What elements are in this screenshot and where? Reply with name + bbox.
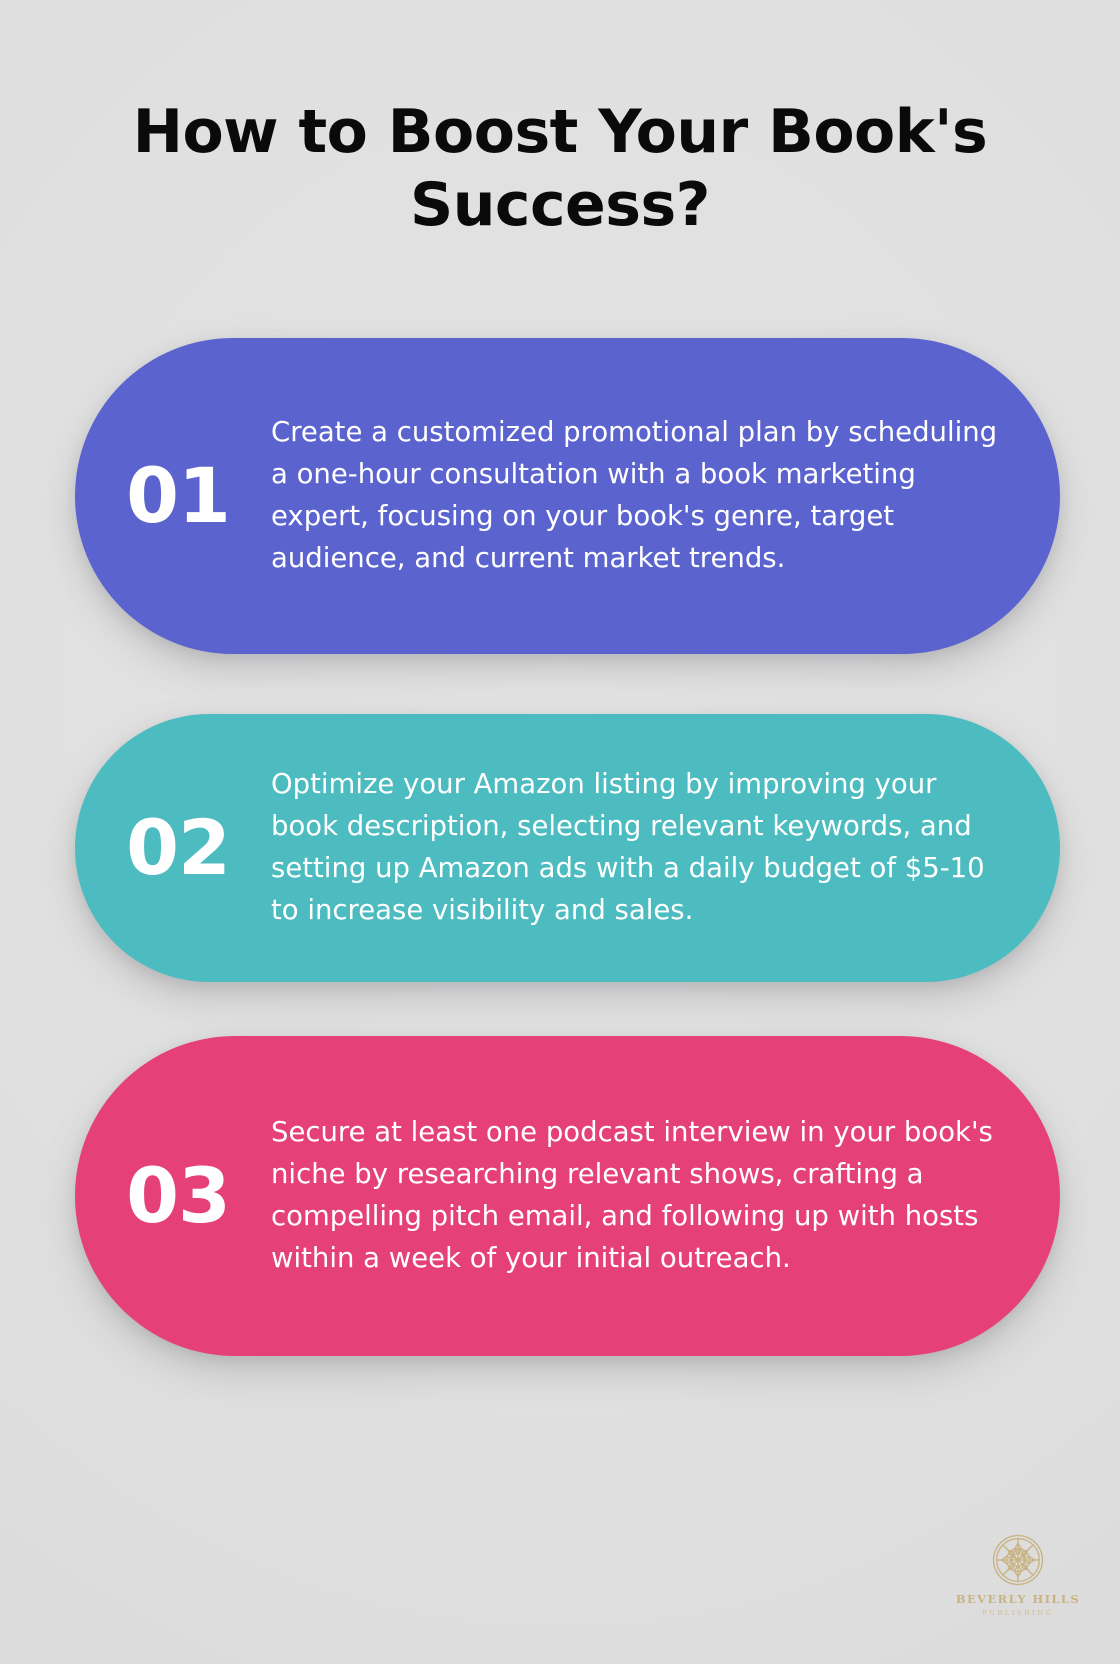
step-card-03: 03 Secure at least one podcast interview… — [75, 1036, 1060, 1356]
step-number: 02 — [75, 810, 271, 886]
page-title: How to Boost Your Book's Success? — [0, 96, 1120, 242]
step-description: Optimize your Amazon listing by improvin… — [271, 764, 1060, 931]
ornamental-circle-emblem-icon — [992, 1534, 1044, 1586]
brand-logo: BEVERLY HILLS PUBLISHING — [928, 1534, 1108, 1617]
step-description: Secure at least one podcast interview in… — [271, 1112, 1060, 1279]
page-title-text: How to Boost Your Book's Success? — [120, 96, 1000, 242]
step-description: Create a customized promotional plan by … — [271, 412, 1060, 579]
brand-name: BEVERLY HILLS — [928, 1592, 1108, 1606]
infographic-page: How to Boost Your Book's Success? 01 Cre… — [0, 0, 1120, 1664]
brand-subtitle: PUBLISHING — [928, 1609, 1108, 1617]
step-card-02: 02 Optimize your Amazon listing by impro… — [75, 714, 1060, 982]
step-card-01: 01 Create a customized promotional plan … — [75, 338, 1060, 654]
step-number: 01 — [75, 458, 271, 534]
step-number: 03 — [75, 1158, 271, 1234]
